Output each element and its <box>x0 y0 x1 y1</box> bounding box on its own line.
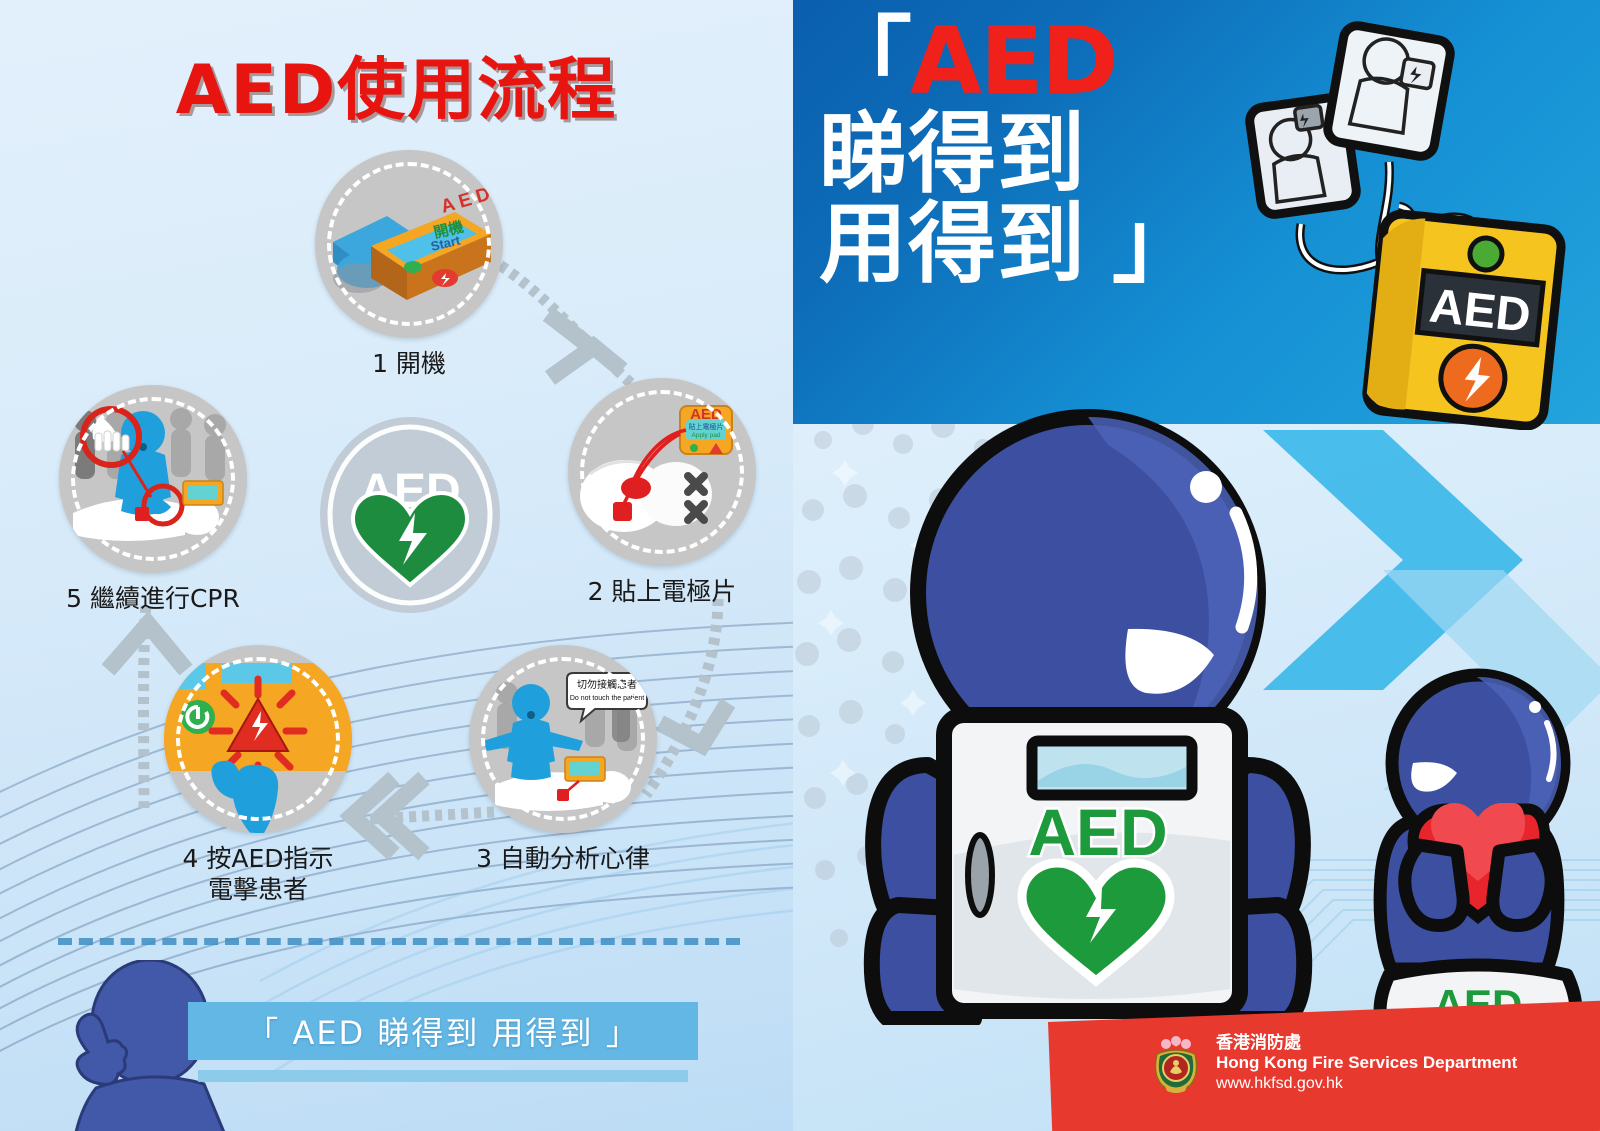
aed-mascot-large: AED <box>808 405 1368 1025</box>
step-apply-pads-label: 2 貼上電極片 <box>552 576 772 607</box>
aed-mascot-small: AED <box>1353 645 1600 1040</box>
department-name-en: Hong Kong Fire Services Department <box>1216 1053 1517 1074</box>
flow-panel: AED使用流程 <box>0 0 793 1131</box>
step-continue-cpr[interactable]: 5 繼續進行CPR <box>38 385 268 614</box>
poster-root: AED使用流程 <box>0 0 1600 1131</box>
hero-panel: 「AED 睇得到 用得到」 <box>793 0 1600 1131</box>
step-deliver-shock-label: 4 按AED指示 電擊患者 <box>143 843 373 906</box>
mascot-device-label: AED <box>1028 795 1167 869</box>
slogan-text: 「 AED 睇得到 用得到 」 <box>188 1002 698 1060</box>
dashed-ring <box>327 162 491 326</box>
dashed-ring <box>580 390 744 554</box>
step-apply-pads-illustration: AED 貼上電極片 Apply pad <box>568 378 756 566</box>
dashed-divider <box>58 938 740 945</box>
hero-bracket-open: 「 <box>819 7 910 115</box>
step-power-on-illustration: 開機 Start A E D <box>315 150 503 338</box>
hero-line-3: 用得到 <box>819 192 1086 295</box>
page-title: AED使用流程 <box>0 34 793 133</box>
step-power-on-label: 1 開機 <box>299 348 519 379</box>
step-continue-cpr-label: 5 繼續進行CPR <box>38 583 268 614</box>
dashed-ring <box>71 397 235 561</box>
aed-unit-label: AED <box>1427 280 1533 343</box>
department-name-zh: 香港消防處 <box>1216 1033 1517 1054</box>
slogan-underline <box>198 1070 688 1082</box>
step-analyze-rhythm[interactable]: 切勿接觸患者 Do not touch the patient 3 自動分析心律 <box>443 645 683 874</box>
slogan-banner: 「 AED 睇得到 用得到 」 <box>188 1002 698 1060</box>
hero-bracket-close: 」 <box>1112 192 1201 295</box>
dashed-ring <box>176 657 340 821</box>
department-credit: 香港消防處 Hong Kong Fire Services Department… <box>1148 1032 1517 1094</box>
step-analyze-rhythm-label: 3 自動分析心律 <box>443 843 683 874</box>
step-deliver-shock[interactable]: 4 按AED指示 電擊患者 <box>143 645 373 906</box>
hkfsd-crest-icon <box>1148 1032 1204 1094</box>
aed-unit-with-pads: AED <box>1193 10 1593 430</box>
step-deliver-shock-illustration <box>164 645 352 833</box>
step-apply-pads[interactable]: AED 貼上電極片 Apply pad 2 貼上電極片 <box>552 378 772 607</box>
department-url[interactable]: www.hkfsd.gov.hk <box>1216 1074 1517 1094</box>
hero-aed-word: AED <box>910 7 1117 115</box>
dashed-ring <box>481 657 645 821</box>
step-power-on[interactable]: 開機 Start A E D 1 開機 <box>299 150 519 379</box>
step-continue-cpr-illustration <box>59 385 247 573</box>
step-analyze-rhythm-illustration: 切勿接觸患者 Do not touch the patient <box>469 645 657 833</box>
aed-center-badge: AED <box>317 415 503 615</box>
